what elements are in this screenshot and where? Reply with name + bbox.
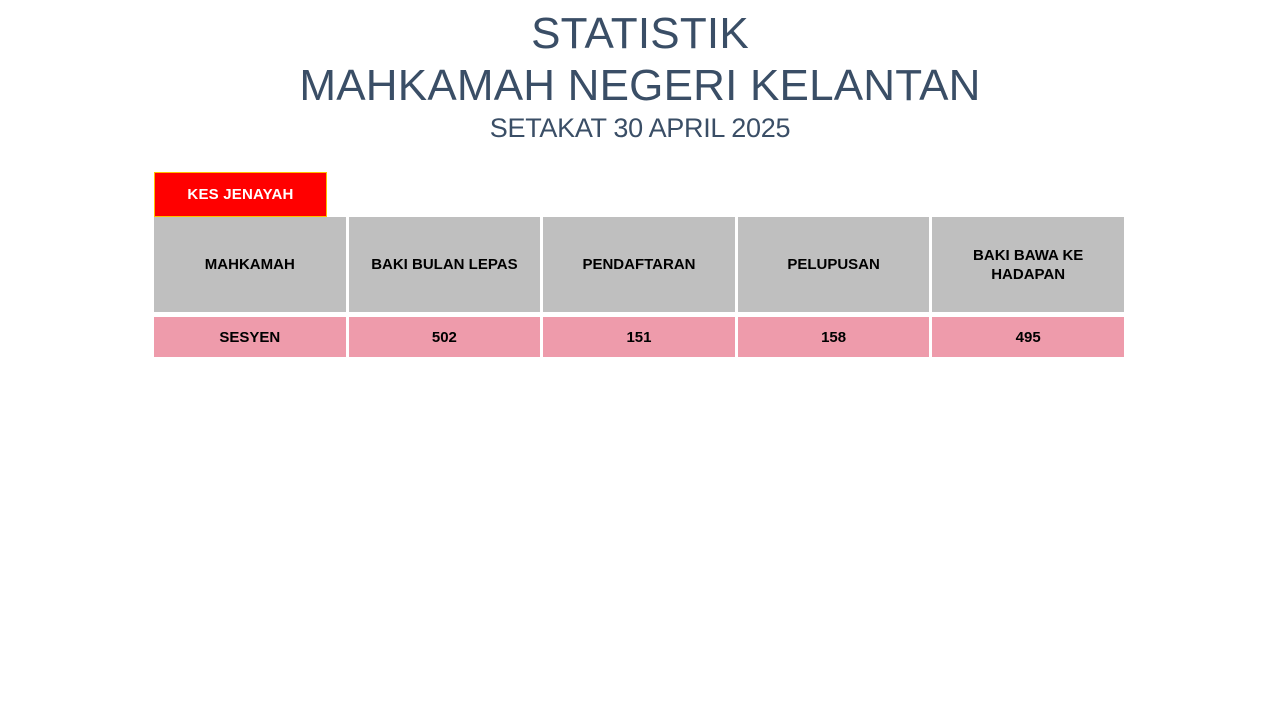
column-header-baki-bulan-lepas: BAKI BULAN LEPAS (349, 217, 541, 312)
cell-mahkamah: SESYEN (154, 317, 346, 357)
table-row: SESYEN 502 151 158 495 (154, 317, 1124, 357)
category-badge-kes-jenayah: KES JENAYAH (154, 172, 327, 217)
column-header-pendaftaran: PENDAFTARAN (543, 217, 735, 312)
column-header-pelupusan: PELUPUSAN (738, 217, 930, 312)
page-subtitle: SETAKAT 30 APRIL 2025 (0, 112, 1280, 144)
page-title-line-2: MAHKAMAH NEGERI KELANTAN (0, 60, 1280, 112)
cell-baki-bulan-lepas: 502 (349, 317, 541, 357)
cell-pelupusan: 158 (738, 317, 930, 357)
page-title-line-1: STATISTIK (0, 8, 1280, 60)
column-header-mahkamah: MAHKAMAH (154, 217, 346, 312)
statistics-table: MAHKAMAH BAKI BULAN LEPAS PENDAFTARAN PE… (154, 217, 1124, 357)
cell-baki-bawa-ke-hadapan: 495 (932, 317, 1124, 357)
category-badge-label: KES JENAYAH (187, 186, 293, 203)
column-header-baki-bawa-ke-hadapan: BAKI BAWA KE HADAPAN (932, 217, 1124, 312)
cell-pendaftaran: 151 (543, 317, 735, 357)
table-header-row: MAHKAMAH BAKI BULAN LEPAS PENDAFTARAN PE… (154, 217, 1124, 312)
slide-title-block: STATISTIK MAHKAMAH NEGERI KELANTAN SETAK… (0, 8, 1280, 144)
